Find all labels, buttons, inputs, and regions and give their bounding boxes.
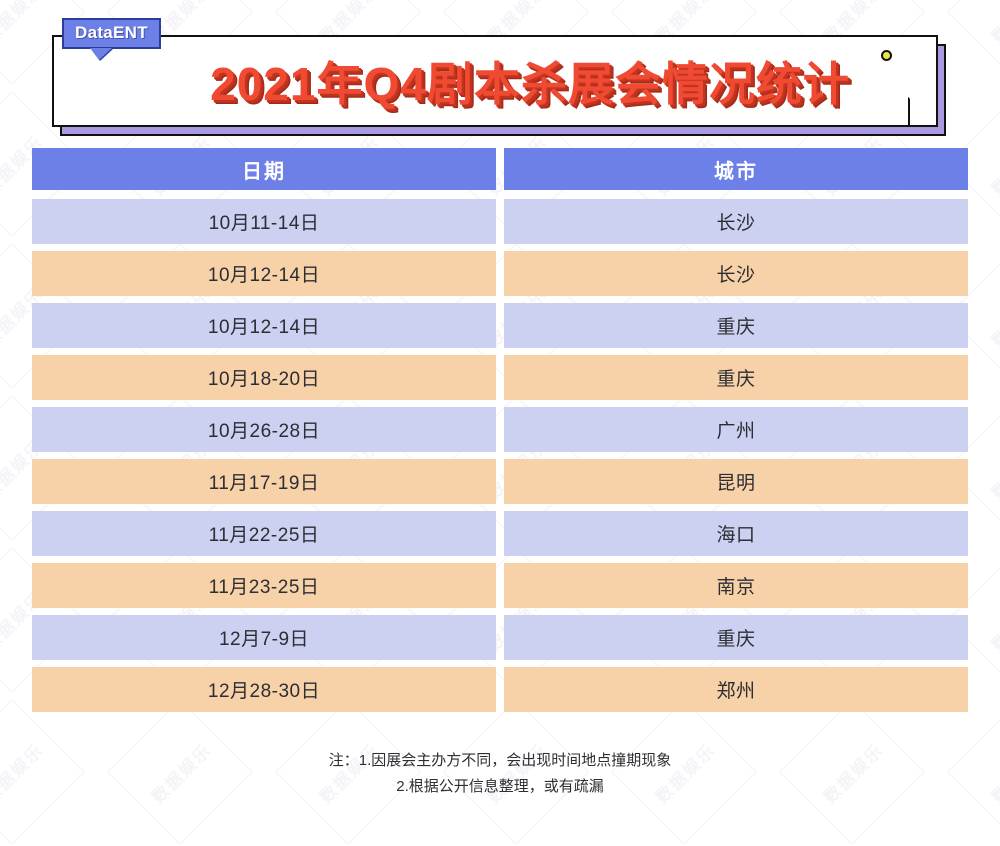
table-header-row: 日期 城市 bbox=[32, 148, 968, 190]
brand-badge-label: DataENT bbox=[62, 18, 161, 49]
cell-city: 重庆 bbox=[504, 355, 968, 400]
cell-city: 长沙 bbox=[504, 251, 968, 296]
table-row: 10月12-14日重庆 bbox=[32, 303, 968, 348]
cell-city: 郑州 bbox=[504, 667, 968, 712]
cell-date: 10月18-20日 bbox=[32, 355, 496, 400]
exhibition-table: 日期 城市 10月11-14日长沙10月12-14日长沙10月12-14日重庆1… bbox=[32, 148, 968, 719]
cell-date: 12月28-30日 bbox=[32, 667, 496, 712]
header-card: 2021年Q4剧本杀展会情况统计 bbox=[52, 35, 938, 127]
footnote-line-2: 2.根据公开信息整理，或有疏漏 bbox=[0, 774, 1000, 800]
cell-date: 10月12-14日 bbox=[32, 303, 496, 348]
table-row: 11月17-19日昆明 bbox=[32, 459, 968, 504]
cell-city: 重庆 bbox=[504, 615, 968, 660]
footnotes: 注：1.因展会主办方不同，会出现时间地点撞期现象 2.根据公开信息整理，或有疏漏 bbox=[0, 748, 1000, 801]
cell-city: 海口 bbox=[504, 511, 968, 556]
cell-city: 南京 bbox=[504, 563, 968, 608]
cell-city: 广州 bbox=[504, 407, 968, 452]
table-row: 10月12-14日长沙 bbox=[32, 251, 968, 296]
brand-badge: DataENT bbox=[62, 18, 161, 49]
cell-date: 11月23-25日 bbox=[32, 563, 496, 608]
watermark-tile: 数据娱乐 bbox=[946, 0, 1000, 86]
header-card-body: 2021年Q4剧本杀展会情况统计 bbox=[52, 35, 938, 127]
column-header-date: 日期 bbox=[32, 148, 496, 190]
table-row: 12月28-30日郑州 bbox=[32, 667, 968, 712]
column-header-city: 城市 bbox=[504, 148, 968, 190]
cell-date: 11月17-19日 bbox=[32, 459, 496, 504]
page-title: 2021年Q4剧本杀展会情况统计 bbox=[54, 48, 936, 114]
brand-badge-tail-icon bbox=[90, 48, 112, 60]
cell-city: 昆明 bbox=[504, 459, 968, 504]
cell-date: 12月7-9日 bbox=[32, 615, 496, 660]
cell-city: 长沙 bbox=[504, 199, 968, 244]
cell-date: 10月26-28日 bbox=[32, 407, 496, 452]
table-row: 10月11-14日长沙 bbox=[32, 199, 968, 244]
table-row: 11月22-25日海口 bbox=[32, 511, 968, 556]
table-row: 11月23-25日南京 bbox=[32, 563, 968, 608]
cell-date: 10月12-14日 bbox=[32, 251, 496, 296]
cell-date: 10月11-14日 bbox=[32, 199, 496, 244]
table-row: 10月26-28日广州 bbox=[32, 407, 968, 452]
table-row: 12月7-9日重庆 bbox=[32, 615, 968, 660]
cell-city: 重庆 bbox=[504, 303, 968, 348]
table-row: 10月18-20日重庆 bbox=[32, 355, 968, 400]
footnote-line-1: 注：1.因展会主办方不同，会出现时间地点撞期现象 bbox=[0, 748, 1000, 774]
cell-date: 11月22-25日 bbox=[32, 511, 496, 556]
